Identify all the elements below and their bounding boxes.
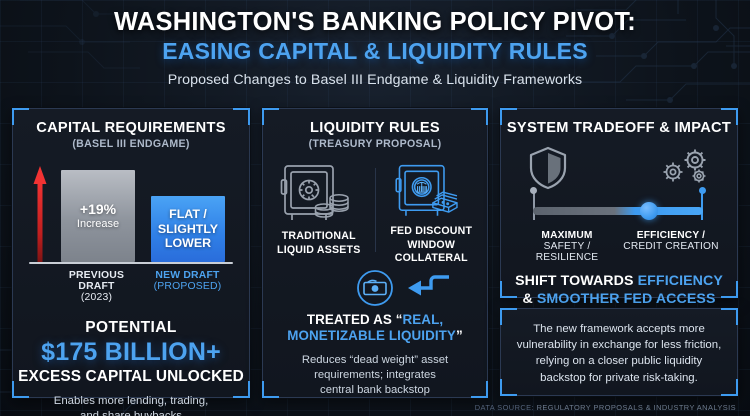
panel-subtitle-liquidity: (TREASURY PROPOSAL) (263, 138, 487, 150)
tradeoff-slider-labels: MAXIMUM SAFETY / RESILIENCE EFFICIENCY /… (515, 230, 723, 263)
x-sublabel-text: (PROPOSED) (142, 281, 233, 292)
data-source-footer: DATA SOURCE: REGULATORY PROPOSALS & INDU… (475, 403, 736, 412)
bar-previous-draft: +19% Increase (61, 170, 135, 262)
slider-tick-left (533, 190, 535, 220)
data-source-text: REGULATORY PROPOSALS & INDUSTRY ANALYSIS (537, 403, 736, 412)
liquidity-label-fed-discount: FED DISCOUNT WINDOW COLLATERAL (390, 225, 472, 266)
chart-x-labels: PREVIOUS DRAFT (2023) NEW DRAFT (PROPOSE… (29, 270, 233, 303)
banknote-circle-icon (355, 268, 395, 308)
bar-sublabel-previous: Increase (77, 218, 119, 230)
monetizable-icon-row (263, 268, 487, 308)
potential-kicker: POTENTIAL (13, 319, 249, 337)
slider-knob[interactable] (640, 202, 658, 220)
header: WASHINGTON'S BANKING POLICY PIVOT: EASIN… (0, 8, 750, 88)
shift-highlight2: SMOOTHER FED ACCESS (537, 291, 716, 307)
note-line1: Reduces “dead weight” asset (302, 354, 448, 366)
arrow-left-icon (395, 275, 451, 301)
note-line3: central bank backstop (320, 384, 430, 396)
safe-coins-icon (280, 162, 358, 226)
liquidity-item-fed-discount: FED DISCOUNT WINDOW COLLATERAL (376, 162, 488, 266)
treated-as-callout: TREATED AS “REAL, MONETIZABLE LIQUIDITY”… (263, 312, 487, 399)
panel-system-tradeoff: SYSTEM TRADEOFF & IMPACT (500, 108, 738, 298)
label-line1: TRADITIONAL (282, 230, 356, 242)
label-line3: COLLATERAL (395, 252, 468, 264)
summary-text: The new framework accepts more vulnerabi… (501, 309, 737, 386)
summary-line1: The new framework accepts more (533, 323, 705, 335)
slider-label-left: MAXIMUM SAFETY / RESILIENCE (515, 230, 619, 263)
slider-endpoint-dot-left (530, 187, 537, 194)
page-title-line2: EASING CAPITAL & LIQUIDITY RULES (0, 38, 750, 65)
summary-line2: vulnerability in exchange for less frict… (517, 339, 722, 351)
shift-plain1: SHIFT TOWARDS (515, 273, 638, 289)
summary-line3: relying on a closer public liquidity (536, 355, 703, 367)
x-label-text: NEW DRAFT (142, 270, 233, 281)
safe-fed-seal-cash-icon (392, 162, 470, 221)
note-line2: requirements; integrates (314, 369, 436, 381)
treated-highlight-line1: REAL, (403, 312, 444, 327)
label-line2: WINDOW (407, 239, 455, 251)
shift-statement: SHIFT TOWARDS EFFICIENCY & SMOOTHER FED … (501, 273, 737, 309)
slider-track[interactable] (533, 207, 703, 215)
treated-as-text: TREATED AS “REAL, MONETIZABLE LIQUIDITY” (273, 312, 477, 345)
increase-arrow-icon (33, 166, 47, 262)
potential-amount: $175 BILLION+ (13, 338, 249, 367)
label-line2: LIQUID ASSETS (277, 244, 360, 256)
liquidity-label-traditional: TRADITIONAL LIQUID ASSETS (277, 230, 360, 257)
treated-note: Reduces “dead weight” asset requirements… (273, 353, 477, 399)
gears-icon (655, 148, 713, 188)
data-source-lead: DATA SOURCE: (475, 403, 534, 412)
label-line1: FED DISCOUNT (390, 225, 472, 237)
page-subtitle: Proposed Changes to Basel III Endgame & … (0, 72, 750, 88)
treated-highlight-line2: MONETIZABLE LIQUIDITY (287, 328, 456, 343)
panel-title-tradeoff: SYSTEM TRADEOFF & IMPACT (501, 120, 737, 136)
liquidity-item-traditional: TRADITIONAL LIQUID ASSETS (263, 162, 375, 266)
treated-suffix: ” (456, 328, 463, 343)
slider-tick-right (701, 190, 703, 220)
page-title-line1: WASHINGTON'S BANKING POLICY PIVOT: (0, 8, 750, 37)
shift-highlight1: EFFICIENCY (638, 273, 723, 289)
panel-title-capital: CAPITAL REQUIREMENTS (13, 120, 249, 136)
bar-new-draft: FLAT /SLIGHTLYLOWER (151, 196, 225, 262)
panel-summary: The new framework accepts more vulnerabi… (500, 308, 738, 396)
bar-value-previous: +19% (80, 202, 116, 217)
tradeoff-icon-row (523, 146, 715, 190)
x-label-text: PREVIOUS DRAFT (51, 270, 142, 292)
panel-title-liquidity: LIQUIDITY RULES (263, 120, 487, 136)
shift-plain2: & (522, 291, 536, 307)
potential-note-line1: Enables more lending, trading, (54, 395, 209, 407)
slider-label-right-line1: EFFICIENCY / (619, 230, 723, 241)
panel-liquidity-rules: LIQUIDITY RULES (TREASURY PROPOSAL) (262, 108, 488, 398)
potential-label: EXCESS CAPITAL UNLOCKED (13, 368, 249, 386)
capital-bar-chart: +19% Increase FLAT /SLIGHTLYLOWER (29, 164, 233, 262)
summary-line4: backstop for private risk-taking. (540, 372, 698, 384)
shield-icon (527, 146, 569, 190)
chart-baseline (29, 262, 233, 264)
bar-value-new: FLAT /SLIGHTLYLOWER (158, 207, 218, 250)
potential-note-line2: and share buybacks (80, 410, 182, 416)
potential-callout: POTENTIAL $175 BILLION+ EXCESS CAPITAL U… (13, 319, 249, 416)
panel-subtitle-capital: (BASEL III ENDGAME) (13, 138, 249, 150)
slider-label-right-line2: CREDIT CREATION (619, 241, 723, 252)
panel-capital-requirements: CAPITAL REQUIREMENTS (BASEL III ENDGAME)… (12, 108, 250, 398)
liquidity-icon-row: TRADITIONAL LIQUID ASSETS (263, 162, 487, 266)
slider-label-right: EFFICIENCY / CREDIT CREATION (619, 230, 723, 263)
slider-label-left-line1: MAXIMUM (515, 230, 619, 241)
tradeoff-slider[interactable] (523, 190, 715, 230)
bar-group: +19% Increase FLAT /SLIGHTLYLOWER (55, 166, 233, 262)
x-sublabel-text: (2023) (51, 292, 142, 303)
infographic-canvas: WASHINGTON'S BANKING POLICY PIVOT: EASIN… (0, 0, 750, 416)
treated-prefix: TREATED AS “ (307, 312, 403, 327)
x-label-previous-draft: PREVIOUS DRAFT (2023) (29, 270, 142, 303)
potential-note: Enables more lending, trading, and share… (13, 394, 249, 416)
slider-label-left-line2: SAFETY / RESILIENCE (515, 241, 619, 263)
x-label-new-draft: NEW DRAFT (PROPOSED) (142, 270, 233, 303)
slider-endpoint-dot-right (699, 187, 706, 194)
